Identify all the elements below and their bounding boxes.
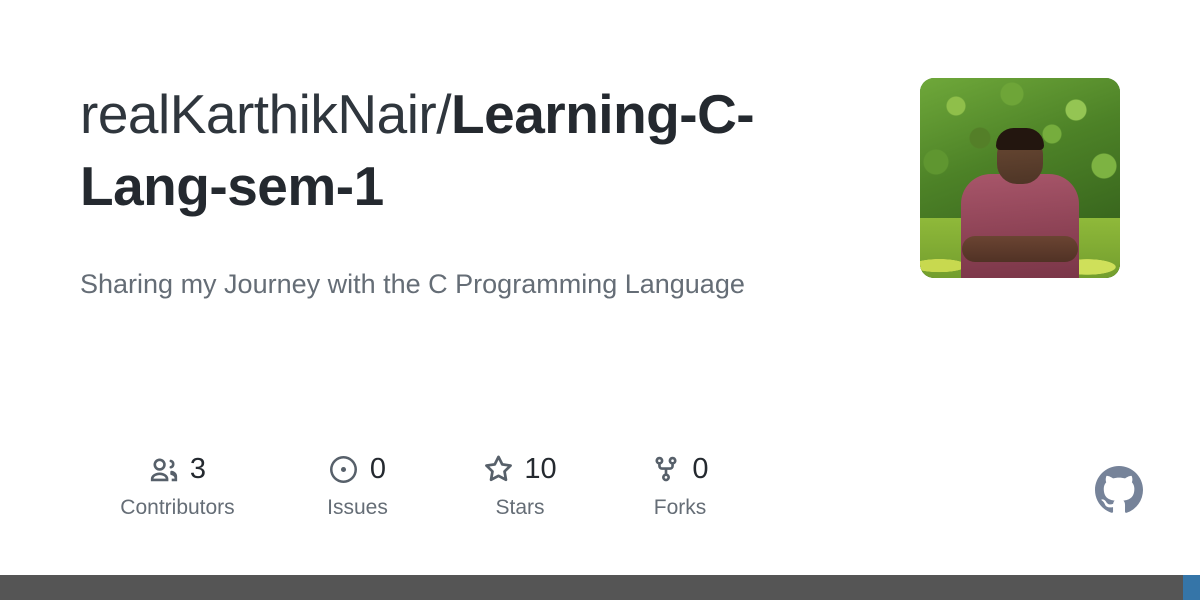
card-header: realKarthikNair/Learning-C-Lang-sem-1 Sh…	[80, 78, 1120, 308]
repo-owner[interactable]: realKarthikNair	[80, 83, 436, 145]
repo-name-separator: /	[436, 83, 451, 145]
stat-issues: 0 Issues	[275, 452, 440, 520]
stat-issues-label: Issues	[327, 496, 388, 520]
issue-opened-icon	[329, 454, 359, 484]
avatar-person-hair	[996, 128, 1044, 150]
page-title: realKarthikNair/Learning-C-Lang-sem-1	[80, 78, 840, 222]
title-block: realKarthikNair/Learning-C-Lang-sem-1 Sh…	[80, 78, 840, 308]
stat-forks-label: Forks	[654, 496, 707, 520]
repo-social-preview-card: realKarthikNair/Learning-C-Lang-sem-1 Sh…	[0, 0, 1200, 575]
stat-forks: 0 Forks	[600, 452, 760, 520]
repo-stats: 3 Contributors 0 Issues	[80, 452, 760, 520]
bottom-bar-accent-segment	[1183, 575, 1200, 600]
stat-issues-count: 0	[370, 454, 386, 484]
stat-stars-top: 10	[483, 452, 556, 486]
stat-forks-top: 0	[651, 452, 708, 486]
avatar-person-arms	[962, 236, 1078, 262]
stat-issues-top: 0	[329, 452, 386, 486]
bottom-bar	[0, 575, 1200, 600]
people-icon	[149, 454, 179, 484]
stat-stars-count: 10	[524, 454, 556, 484]
stat-contributors-count: 3	[190, 454, 206, 484]
stat-contributors: 3 Contributors	[80, 452, 275, 520]
stat-contributors-top: 3	[149, 452, 206, 486]
star-icon	[483, 454, 513, 484]
repo-description: Sharing my Journey with the C Programmin…	[80, 260, 770, 308]
github-mark-icon	[1095, 466, 1143, 514]
repo-forked-icon	[651, 454, 681, 484]
stat-forks-count: 0	[692, 454, 708, 484]
avatar	[920, 78, 1120, 278]
stat-contributors-label: Contributors	[120, 496, 234, 520]
stat-stars: 10 Stars	[440, 452, 600, 520]
bottom-bar-main-segment	[0, 575, 1183, 600]
stat-stars-label: Stars	[495, 496, 544, 520]
avatar-person-torso	[961, 174, 1079, 278]
